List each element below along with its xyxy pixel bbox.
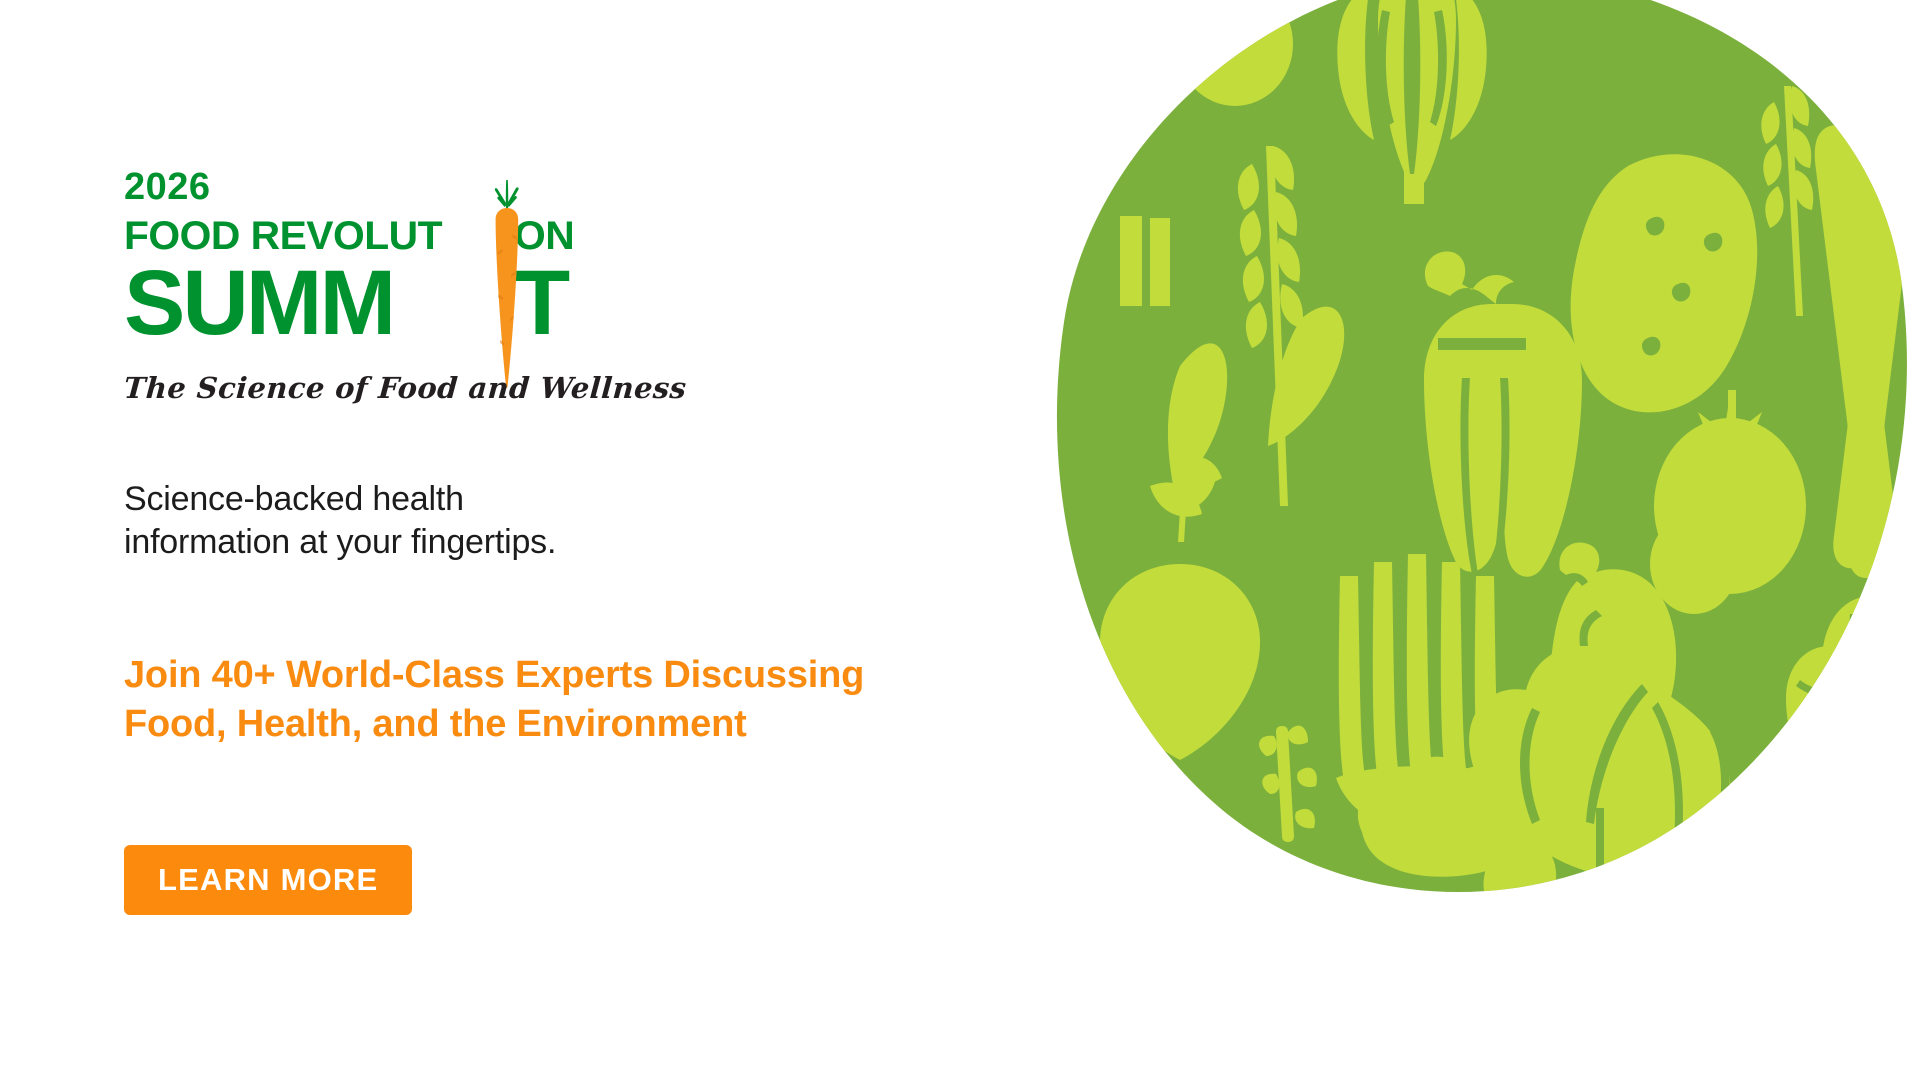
left-content-column: 2026 FOOD REVOLUT ON SUMM T — [124, 0, 1024, 1080]
logo-text-t: T — [514, 257, 567, 349]
logo-line-summit: SUMM T — [124, 257, 554, 347]
headline-line-2: Food, Health, and the Environment — [124, 700, 864, 749]
carrot-icon — [491, 178, 521, 390]
subhead-line-2: information at your fingertips. — [124, 521, 556, 564]
headline-line-1: Join 40+ World-Class Experts Discussing — [124, 651, 864, 700]
learn-more-button[interactable]: LEARN MORE — [124, 845, 412, 915]
logo-tagline: The Science of Food and Wellness — [123, 371, 555, 405]
logo-text-food-revolut: FOOD REVOLUT — [124, 215, 442, 257]
food-revolution-summit-logo: 2026 FOOD REVOLUT ON SUMM T — [124, 168, 554, 405]
vegetable-collage-blob — [1030, 0, 1920, 916]
logo-text-summ: SUMM — [124, 257, 393, 349]
logo-year: 2026 — [124, 168, 554, 206]
headline-text: Join 40+ World-Class Experts Discussing … — [124, 651, 864, 750]
subhead-line-1: Science-backed health — [124, 478, 556, 521]
promo-banner: 2026 FOOD REVOLUT ON SUMM T — [0, 0, 1920, 1080]
subhead-text: Science-backed health information at you… — [124, 478, 556, 564]
logo-text-on: ON — [514, 215, 574, 257]
